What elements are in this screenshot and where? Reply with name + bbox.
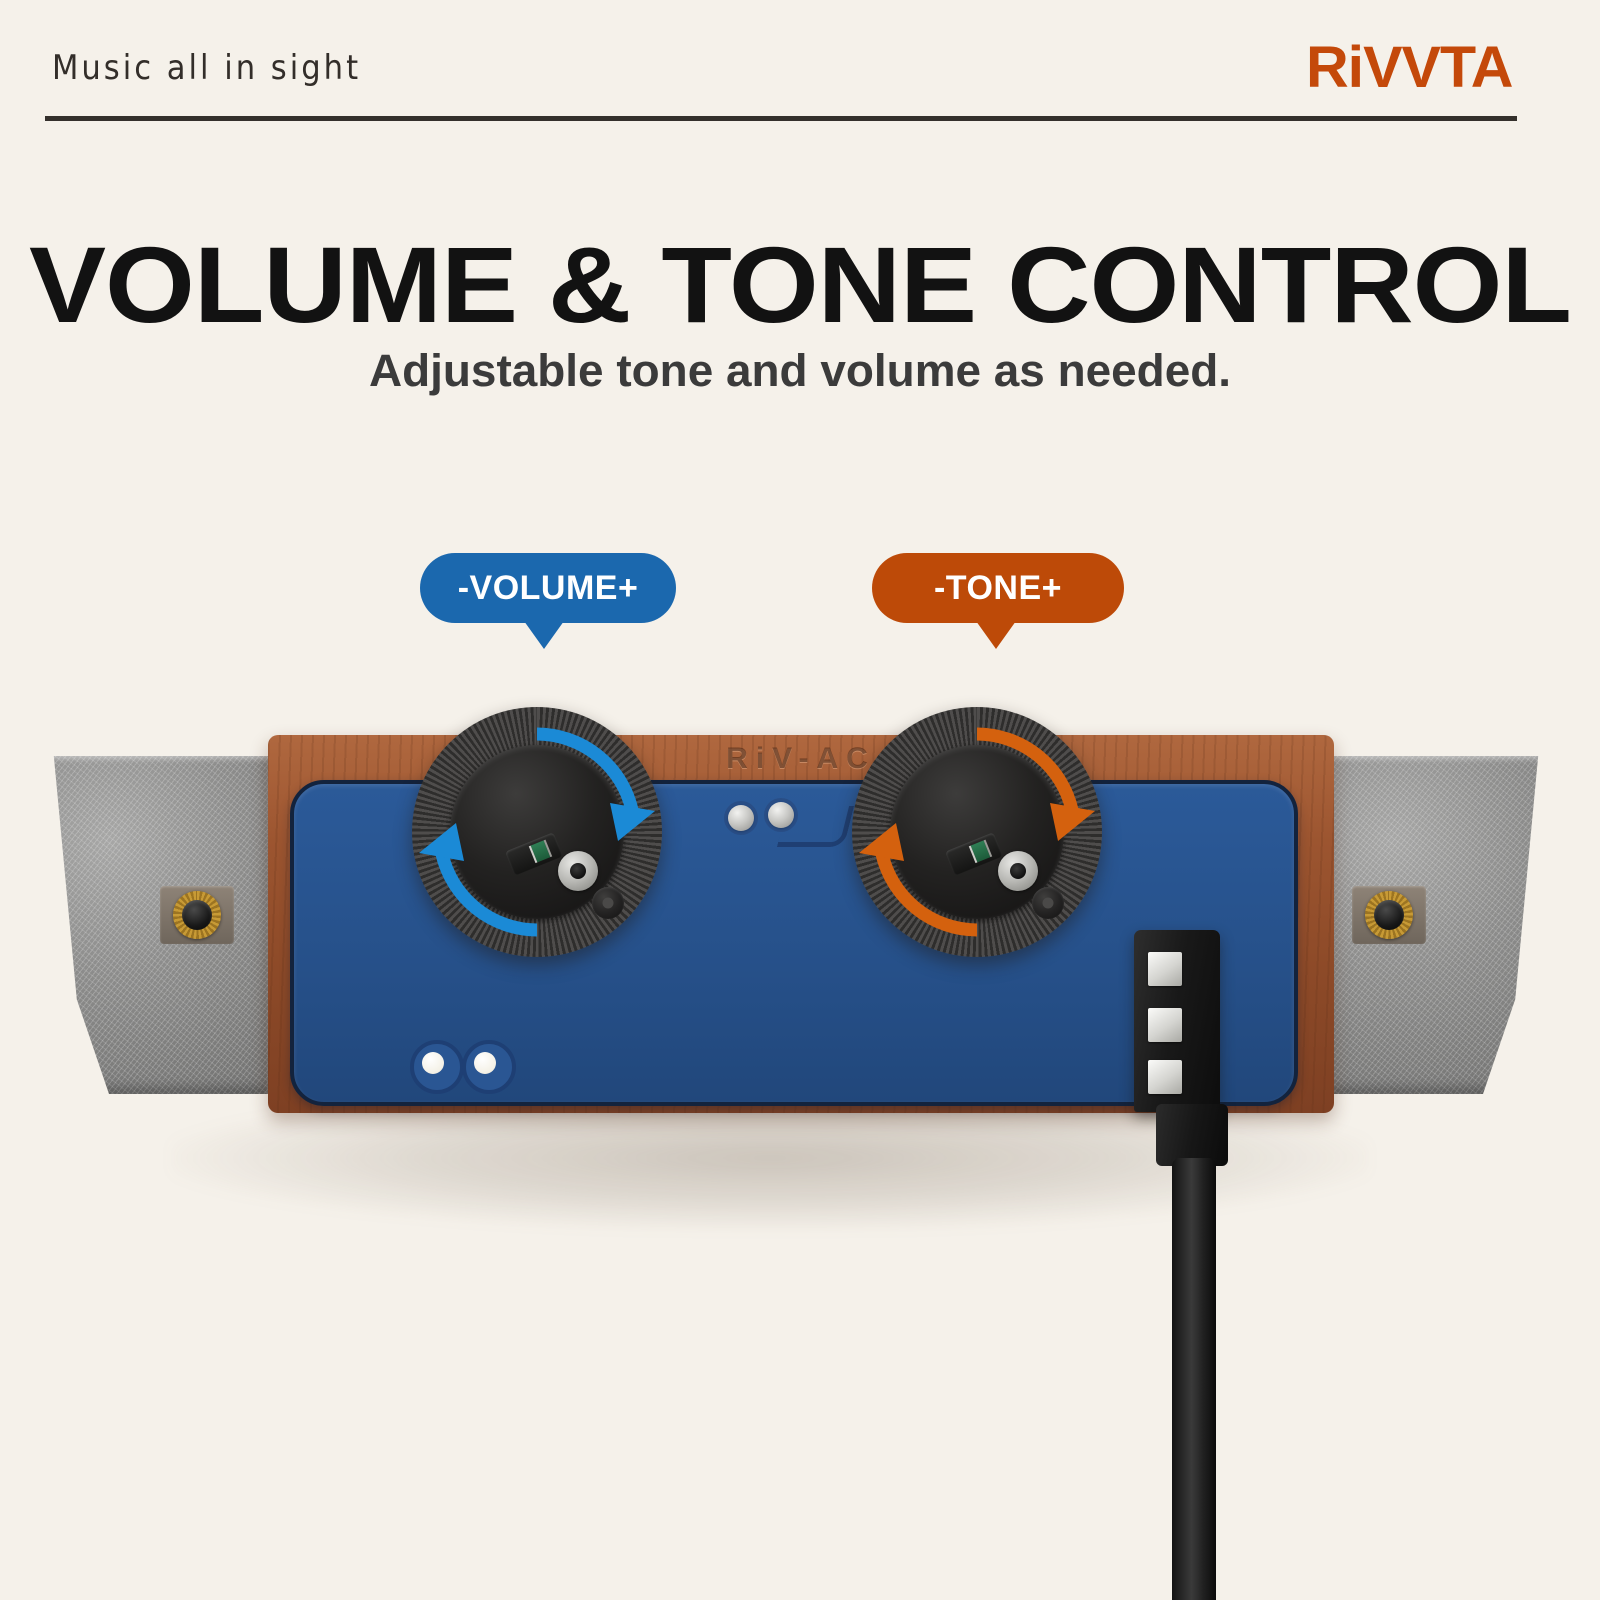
callout-tone: -TONE+ — [872, 553, 1124, 623]
endpin-jack-right — [1352, 886, 1426, 944]
volume-knob-slot — [505, 832, 563, 876]
page-subtitle: Adjustable tone and volume as needed. — [0, 345, 1600, 397]
tagline: Music all in sight — [52, 48, 361, 88]
volume-knob-chip — [529, 840, 552, 863]
volume-knob-nut — [558, 851, 598, 891]
felt-pad-left — [40, 756, 270, 1094]
callout-volume: -VOLUME+ — [420, 553, 676, 623]
marketing-banner: Music all in sight RiVVTA VOLUME & TONE … — [0, 0, 1600, 1600]
board-screw-left — [728, 805, 754, 831]
header-divider — [45, 116, 1517, 121]
callout-tone-label: -TONE+ — [934, 569, 1062, 608]
connector-pin-2 — [1148, 1008, 1182, 1042]
brand-logo: RiVVTA — [1306, 34, 1512, 101]
connector-strain-relief — [1156, 1104, 1228, 1166]
volume-knob-screw — [592, 887, 624, 919]
wire-trace — [777, 806, 854, 847]
callout-volume-pointer — [524, 621, 564, 649]
tone-knob[interactable] — [852, 707, 1102, 957]
jack-hole-left — [182, 900, 212, 930]
page-title: VOLUME & TONE CONTROL — [0, 222, 1600, 347]
led-dot-left — [422, 1052, 444, 1074]
callout-tone-pointer — [976, 621, 1016, 649]
led-dot-right — [474, 1052, 496, 1074]
tone-knob-nut — [998, 851, 1038, 891]
jack-hole-right — [1374, 900, 1404, 930]
output-cable — [1172, 1158, 1216, 1600]
volume-knob[interactable] — [412, 707, 662, 957]
tone-knob-slot — [945, 832, 1003, 876]
output-connector — [1134, 930, 1220, 1112]
volume-knob-face — [450, 745, 624, 919]
callout-volume-label: -VOLUME+ — [458, 569, 639, 608]
connector-pin-3 — [1148, 1060, 1182, 1094]
connector-pin-1 — [1148, 952, 1182, 986]
tone-knob-screw — [1032, 887, 1064, 919]
tone-knob-chip — [969, 840, 992, 863]
endpin-jack-left — [160, 886, 234, 944]
led-indicator-pads — [410, 1040, 518, 1086]
tone-knob-face — [890, 745, 1064, 919]
